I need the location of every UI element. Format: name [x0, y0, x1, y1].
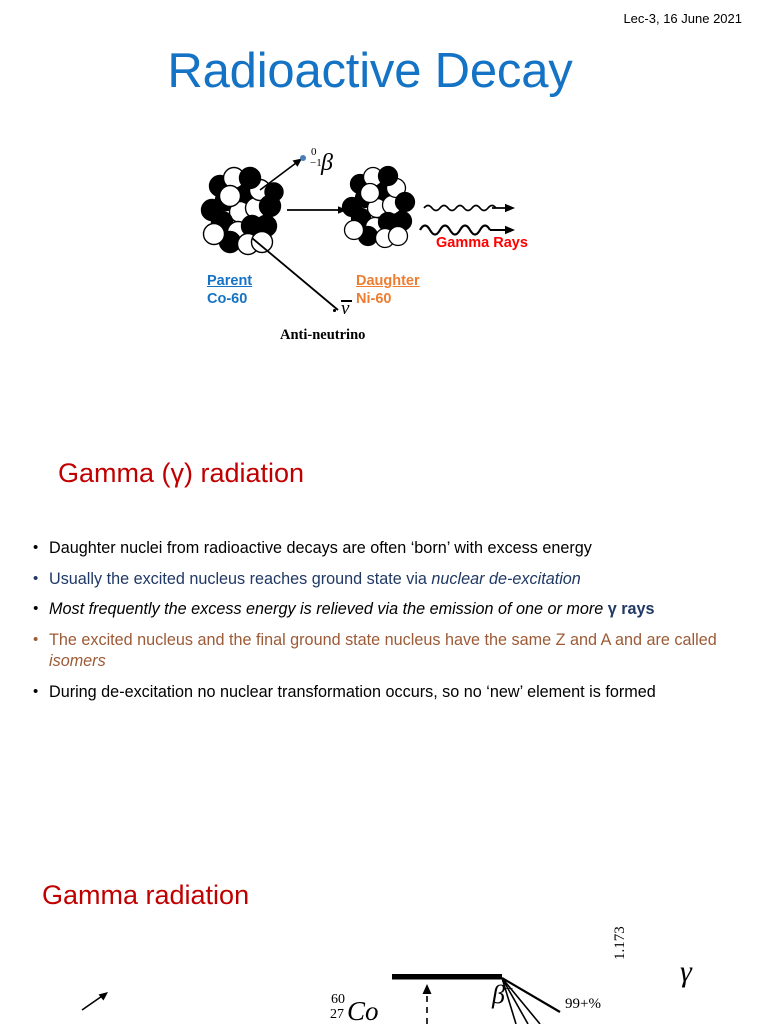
antineutrino-symbol: ν — [333, 298, 349, 320]
bullet-item-4: The excited nucleus and the final ground… — [31, 630, 721, 673]
bullet-item-3: Most frequently the excess energy is rel… — [31, 599, 721, 621]
bullet-text-1: Daughter nuclei from radioactive decays … — [49, 539, 592, 557]
decay-scheme-diagram: 6027Co β− 0−1β — [0, 930, 768, 1024]
lecture-date: Lec-3, 16 June 2021 — [623, 11, 742, 26]
scheme-beta-glyph: β — [492, 980, 505, 1009]
bullet-text-3-italic: Most frequently the excess energy is rel… — [49, 600, 608, 618]
parent-nucleus-cluster — [202, 168, 284, 255]
bullet-item-5: During de-excitation no nuclear transfor… — [31, 682, 721, 704]
decay-scheme-svg — [0, 930, 768, 1024]
daughter-label-group: Daughter Ni-60 — [356, 272, 420, 308]
scheme-beta-arrow — [82, 992, 108, 1010]
bullet-text-2-plain: Usually the excited nucleus reaches grou… — [49, 570, 431, 588]
bullet-text-5: During de-excitation no nuclear transfor… — [49, 683, 656, 701]
scheme-up-arrow — [423, 984, 432, 1024]
bullet-item-2: Usually the excited nucleus reaches grou… — [31, 569, 721, 591]
antineutrino-label: Anti-neutrino — [280, 326, 365, 344]
scheme-parent-level-bar — [392, 974, 502, 980]
beta-particle-dot-icon — [300, 155, 306, 161]
beta-mass-charge-numbers: 0−1 — [310, 148, 321, 170]
daughter-nucleus-cluster — [343, 167, 415, 248]
bullet-list: Daughter nuclei from radioactive decays … — [31, 538, 721, 712]
scheme-atomic-number: 27 — [330, 1007, 344, 1023]
bullet-text-3-highlight: γ rays — [608, 600, 655, 618]
section-heading-gamma-radiation-2: Gamma radiation — [42, 880, 249, 911]
scheme-element-symbol: Co — [347, 996, 379, 1024]
transition-arrow-horizontal — [287, 206, 347, 213]
beta-particle-symbol: 0−1β — [300, 148, 333, 177]
scheme-gamma-symbol: γ — [680, 955, 692, 989]
bullet-text-2-italic: nuclear de-excitation — [431, 570, 580, 588]
parent-label: Parent — [207, 273, 252, 289]
daughter-nuclide: Ni-60 — [356, 291, 391, 307]
daughter-label: Daughter — [356, 273, 420, 289]
slide-canvas: Lec-3, 16 June 2021 Radioactive Decay — [0, 0, 768, 1024]
antineutrino-overbar — [341, 300, 352, 302]
bullet-text-4-italic: isomers — [49, 652, 106, 670]
beta-subscript: −1 — [310, 157, 322, 169]
scheme-beta-minus-label: β− — [492, 980, 513, 1010]
scheme-nuclide-label: 6027Co — [330, 992, 379, 1024]
page-title: Radioactive Decay — [0, 45, 740, 99]
beta-glyph: β — [321, 150, 333, 176]
scheme-mass-number: 60 — [331, 992, 345, 1008]
gamma-ray-wave-top — [424, 204, 515, 212]
scheme-beta-sign: − — [505, 981, 513, 997]
section-heading-gamma-radiation-1: Gamma (γ) radiation — [58, 458, 304, 489]
antineutrino-emission-arrow — [252, 238, 338, 310]
scheme-nuclide-numbers: 6027 — [330, 992, 347, 1020]
beta-decay-diagram: 0−1β ν Parent Co-60 Daughter Ni-60 Gamma… — [190, 138, 570, 353]
beta-emission-arrow — [260, 159, 302, 191]
scheme-gamma-energy: 1.173 — [612, 926, 629, 960]
bullet-text-4-plain: The excited nucleus and the final ground… — [49, 631, 717, 649]
parent-label-group: Parent Co-60 — [207, 272, 252, 308]
scheme-branch-percent: 99+% — [565, 996, 601, 1013]
antineutrino-dot-icon — [333, 309, 336, 312]
gamma-rays-label: Gamma Rays — [436, 234, 528, 252]
bullet-item-1: Daughter nuclei from radioactive decays … — [31, 538, 721, 560]
parent-nuclide: Co-60 — [207, 291, 247, 307]
